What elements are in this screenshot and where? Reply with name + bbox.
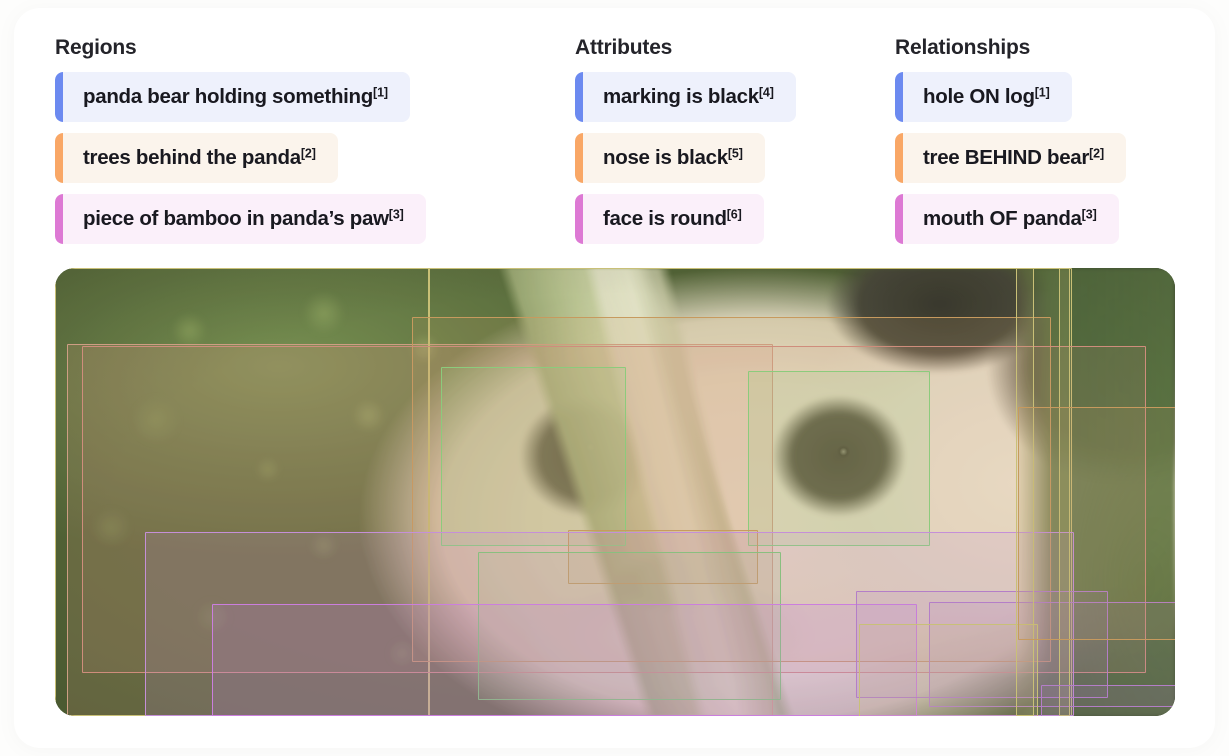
annotation-columns: Regions panda bear holding something[1] … bbox=[14, 8, 1215, 258]
pill-ref: [1] bbox=[373, 85, 388, 99]
pill-regions-2[interactable]: trees behind the panda[2] bbox=[55, 133, 338, 183]
pill-label: mouth OF panda bbox=[923, 207, 1082, 230]
accent-bar-blue bbox=[575, 72, 583, 122]
accent-bar-blue bbox=[55, 72, 63, 122]
box-eye-left[interactable] bbox=[441, 367, 626, 546]
pill-label: piece of bamboo in panda’s paw bbox=[83, 207, 389, 230]
pill-regions-3[interactable]: piece of bamboo in panda’s paw[3] bbox=[55, 194, 426, 244]
pill-list-attributes: marking is black[4] nose is black[5] fac… bbox=[575, 72, 796, 244]
pill-attributes-2[interactable]: nose is black[5] bbox=[575, 133, 765, 183]
pill-attributes-1[interactable]: marking is black[4] bbox=[575, 72, 796, 122]
pill-ref: [6] bbox=[727, 207, 742, 221]
accent-bar-pink bbox=[575, 194, 583, 244]
content-card: Regions panda bear holding something[1] … bbox=[14, 8, 1215, 748]
pill-label: marking is black bbox=[603, 85, 759, 108]
pill-ref: [5] bbox=[728, 146, 743, 160]
pill-list-relationships: hole ON log[1] tree BEHIND bear[2] mouth… bbox=[895, 72, 1126, 244]
pill-relationships-1[interactable]: hole ON log[1] bbox=[895, 72, 1072, 122]
accent-bar-pink bbox=[55, 194, 63, 244]
accent-bar-pink bbox=[895, 194, 903, 244]
pill-label: panda bear holding something bbox=[83, 85, 373, 108]
box-right-foliage[interactable] bbox=[1018, 407, 1175, 640]
accent-bar-orange bbox=[895, 133, 903, 183]
column-heading-attributes: Attributes bbox=[575, 36, 796, 60]
annotated-image-panel bbox=[55, 268, 1175, 716]
accent-bar-orange bbox=[575, 133, 583, 183]
pill-label: trees behind the panda bbox=[83, 146, 301, 169]
pill-attributes-3[interactable]: face is round[6] bbox=[575, 194, 764, 244]
pill-relationships-3[interactable]: mouth OF panda[3] bbox=[895, 194, 1119, 244]
accent-bar-orange bbox=[55, 133, 63, 183]
page-root: Regions panda bear holding something[1] … bbox=[0, 0, 1229, 756]
column-relationships: Relationships hole ON log[1] tree BEHIND… bbox=[895, 36, 1126, 244]
bounding-box-overlay bbox=[55, 268, 1175, 716]
box-paw[interactable] bbox=[212, 604, 918, 716]
column-regions: Regions panda bear holding something[1] … bbox=[55, 36, 426, 244]
box-log[interactable] bbox=[859, 624, 1038, 716]
accent-bar-blue bbox=[895, 72, 903, 122]
box-bottom-strip[interactable] bbox=[1041, 685, 1175, 716]
pill-label: tree BEHIND bear bbox=[923, 146, 1089, 169]
pill-ref: [2] bbox=[301, 146, 316, 160]
pill-label: face is round bbox=[603, 207, 727, 230]
pill-ref: [2] bbox=[1089, 146, 1104, 160]
pill-relationships-2[interactable]: tree BEHIND bear[2] bbox=[895, 133, 1126, 183]
column-heading-regions: Regions bbox=[55, 36, 426, 60]
pill-ref: [4] bbox=[759, 85, 774, 99]
pill-list-regions: panda bear holding something[1] trees be… bbox=[55, 72, 426, 244]
pill-ref: [3] bbox=[1082, 207, 1097, 221]
pill-label: nose is black bbox=[603, 146, 728, 169]
column-attributes: Attributes marking is black[4] nose is b… bbox=[575, 36, 796, 244]
pill-ref: [1] bbox=[1035, 85, 1050, 99]
pill-regions-1[interactable]: panda bear holding something[1] bbox=[55, 72, 410, 122]
pill-ref: [3] bbox=[389, 207, 404, 221]
column-heading-relationships: Relationships bbox=[895, 36, 1126, 60]
box-eye-right[interactable] bbox=[748, 371, 929, 546]
pill-label: hole ON log bbox=[923, 85, 1035, 108]
